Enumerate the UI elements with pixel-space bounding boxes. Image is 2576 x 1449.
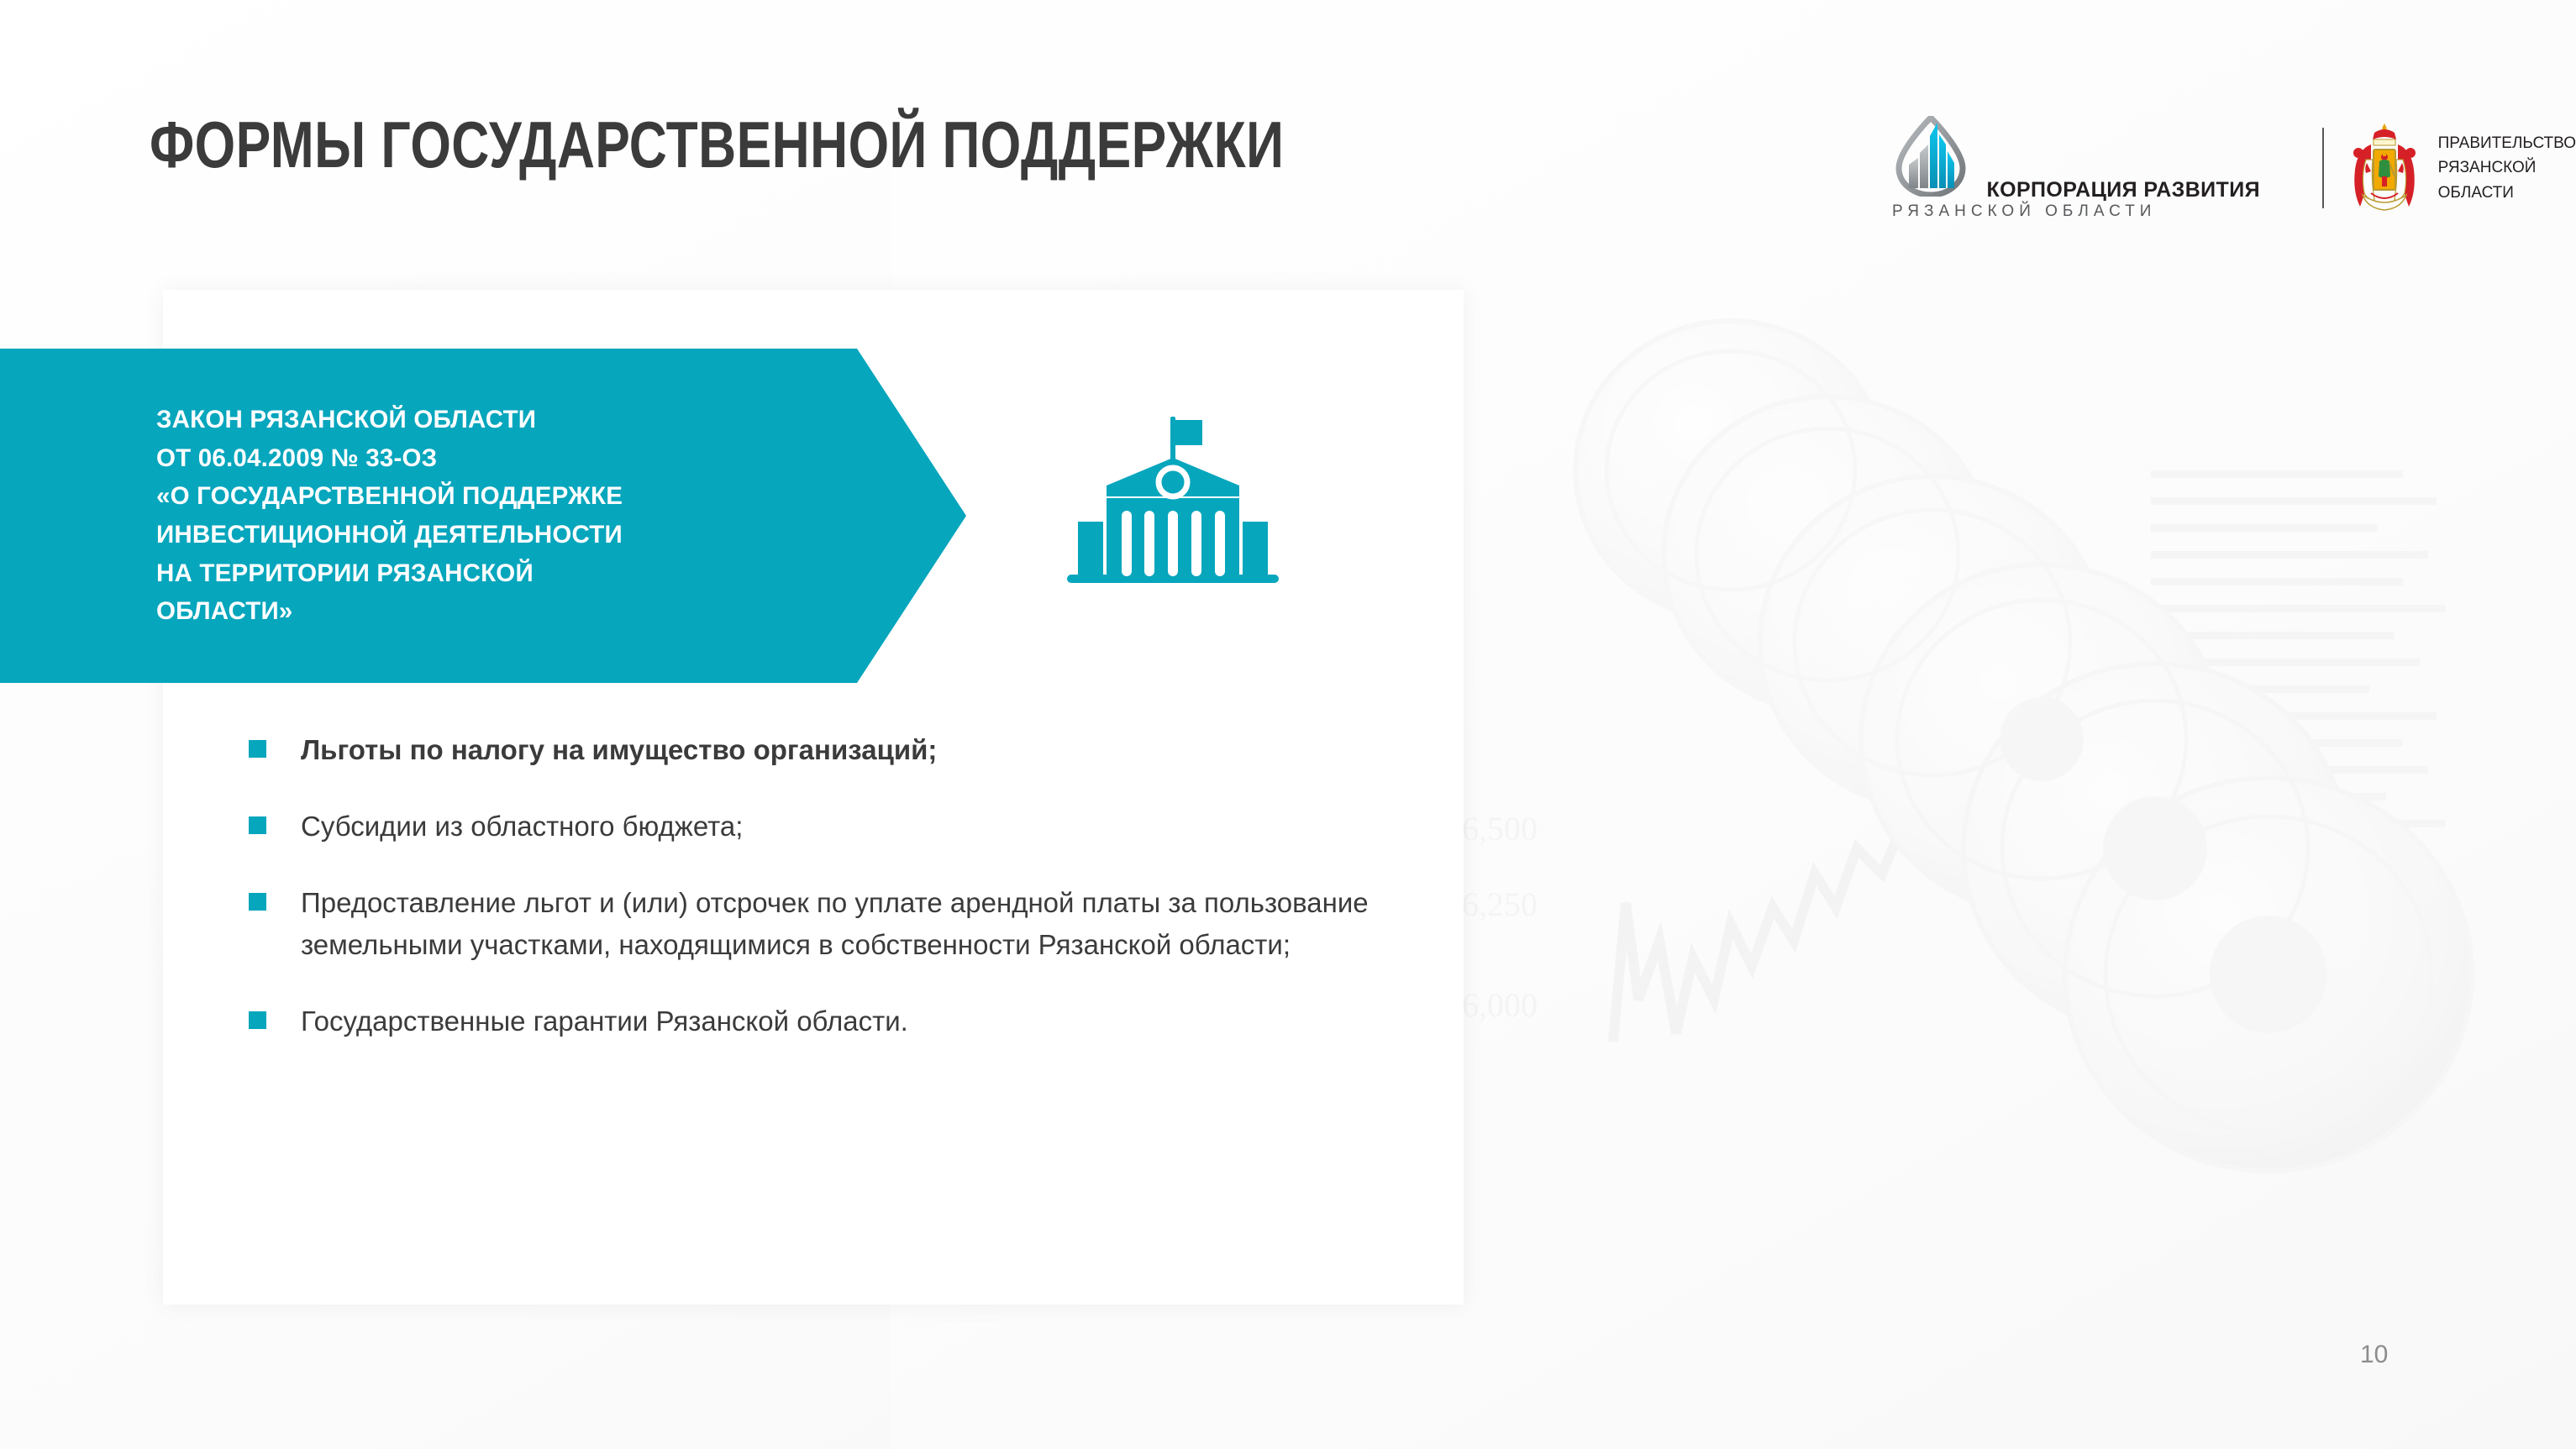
- list-item: Субсидии из областного бюджета;: [249, 806, 1425, 848]
- bullet-square-icon: [249, 816, 266, 834]
- corporation-logo-line1: КОРПОРАЦИЯ РАЗВИТИЯ: [1986, 178, 2260, 202]
- government-logo-line2: РЯЗАНСКОЙ: [2438, 155, 2576, 180]
- page-title: ФОРМЫ ГОСУДАРСТВЕННОЙ ПОДДЕРЖКИ: [150, 112, 1284, 177]
- page-number: 10: [2360, 1341, 2388, 1369]
- law-line-3: «О ГОСУДАРСТВЕННОЙ ПОДДЕРЖКЕ: [156, 477, 623, 516]
- header-logo-bar: КОРПОРАЦИЯ РАЗВИТИЯ РЯЗАНСКОЙ ОБЛАСТИ: [1892, 118, 2576, 218]
- support-forms-list: Льготы по налогу на имущество организаци…: [249, 729, 1425, 1043]
- list-item: Государственные гарантии Рязанской облас…: [249, 1000, 1425, 1043]
- list-item: Предоставление льгот и (или) отсрочек по…: [249, 882, 1425, 968]
- law-line-2: ОТ 06.04.2009 № 33-ОЗ: [156, 439, 623, 478]
- svg-text:6,500: 6,500: [1462, 810, 1538, 848]
- law-banner: ЗАКОН РЯЗАНСКОЙ ОБЛАСТИ ОТ 06.04.2009 № …: [0, 349, 966, 683]
- corporation-logo: КОРПОРАЦИЯ РАЗВИТИЯ РЯЗАНСКОЙ ОБЛАСТИ: [1892, 116, 2300, 221]
- law-line-5: НА ТЕРРИТОРИИ РЯЗАНСКОЙ: [156, 554, 623, 593]
- svg-text:6,000: 6,000: [1462, 986, 1538, 1024]
- list-item: Льготы по налогу на имущество организаци…: [249, 729, 1425, 772]
- law-line-4: ИНВЕСТИЦИОННОЙ ДЕЯТЕЛЬНОСТИ: [156, 516, 623, 554]
- government-logo: ПРАВИТЕЛЬСТВО РЯЗАНСКОЙ ОБЛАСТИ: [2346, 121, 2576, 215]
- bullet-square-icon: [249, 1011, 266, 1029]
- law-banner-text: ЗАКОН РЯЗАНСКОЙ ОБЛАСТИ ОТ 06.04.2009 № …: [156, 401, 623, 631]
- bullet-square-icon: [249, 893, 266, 911]
- government-logo-line1: ПРАВИТЕЛЬСТВО: [2438, 131, 2576, 155]
- list-item-text: Предоставление льгот и (или) отсрочек по…: [301, 882, 1410, 968]
- list-item-text: Государственные гарантии Рязанской облас…: [301, 1000, 908, 1043]
- bullet-square-icon: [249, 740, 266, 758]
- corporation-logo-line2: РЯЗАНСКОЙ ОБЛАСТИ: [1892, 202, 2156, 220]
- list-item-text: Субсидии из областного бюджета;: [301, 806, 743, 848]
- law-line-6: ОБЛАСТИ»: [156, 592, 623, 631]
- ryazan-coat-of-arms-icon: [2346, 121, 2423, 215]
- government-building-icon: [1060, 410, 1304, 620]
- svg-text:6,250: 6,250: [1462, 885, 1538, 923]
- government-logo-line3: ОБЛАСТИ: [2438, 181, 2576, 205]
- logo-divider: [2322, 128, 2324, 208]
- list-item-text: Льготы по налогу на имущество организаци…: [301, 729, 937, 772]
- law-line-1: ЗАКОН РЯЗАНСКОЙ ОБЛАСТИ: [156, 401, 623, 439]
- building-droplet-logo-icon: [1892, 186, 1973, 200]
